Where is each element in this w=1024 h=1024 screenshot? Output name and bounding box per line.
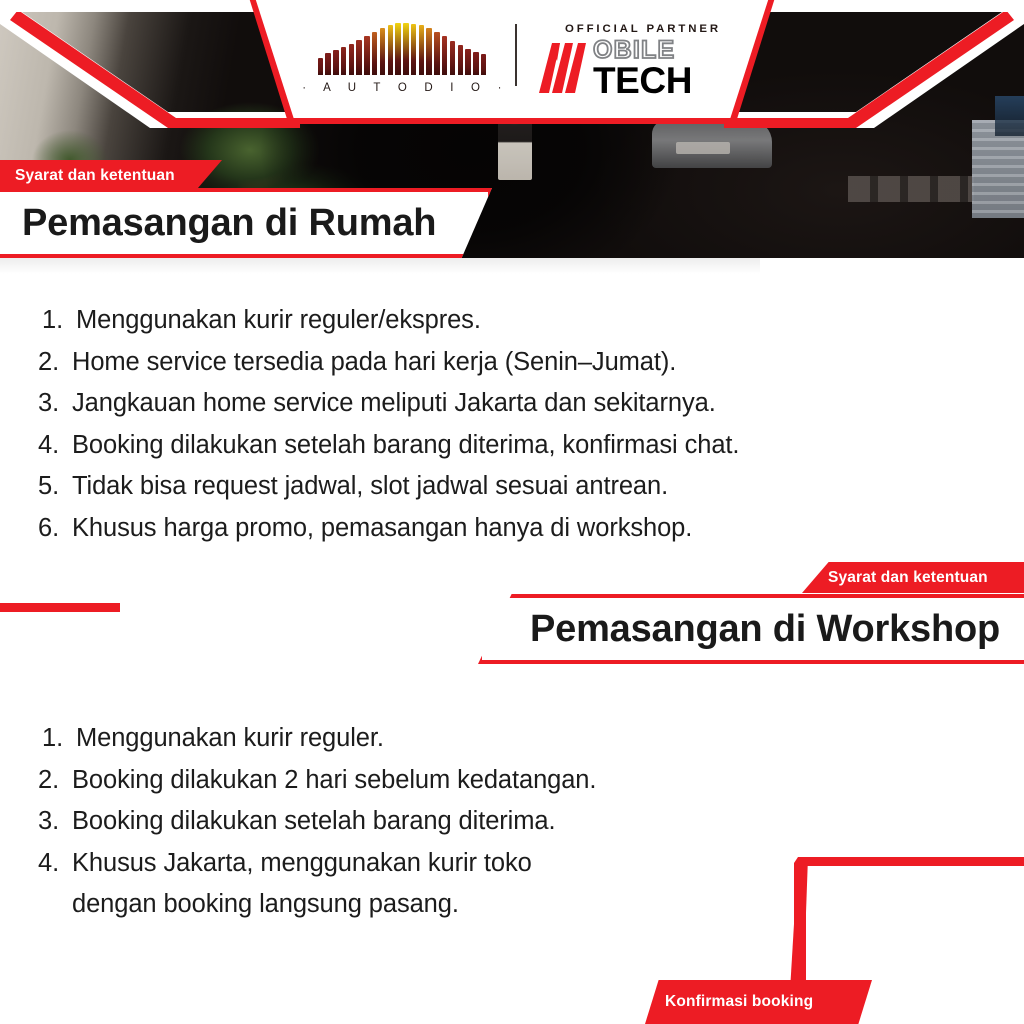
mobiletech-text-stack: OBILE TECH	[593, 37, 692, 98]
equalizer-bar	[341, 47, 346, 75]
list-item-text: Khusus harga promo, pemasangan hanya di …	[72, 508, 998, 550]
list-item: 4.Khusus Jakarta, menggunakan kurir toko…	[38, 843, 998, 926]
equalizer-bar	[372, 32, 377, 75]
equalizer-bar	[442, 36, 447, 75]
equalizer-bar	[419, 25, 424, 75]
list-item-number: 2.	[38, 760, 72, 802]
list-item-number: 5.	[38, 466, 72, 508]
list-item-number: 3.	[38, 801, 72, 843]
equalizer-bar	[411, 24, 416, 75]
banner-shadow	[0, 258, 760, 274]
equalizer-bar	[356, 40, 361, 75]
equalizer-bar	[325, 53, 330, 75]
equalizer-bar	[481, 54, 486, 75]
autodio-wordmark: · A U T O D I O ·	[295, 82, 508, 94]
list-item-number: 3.	[38, 383, 72, 425]
mobiletech-tech-text: TECH	[593, 64, 692, 98]
list-item: 2.Home service tersedia pada hari kerja …	[38, 342, 998, 384]
list-item: 3.Booking dilakukan setelah barang diter…	[38, 801, 998, 843]
list-item: 6.Khusus harga promo, pemasangan hanya d…	[38, 508, 998, 550]
equalizer-bar	[349, 44, 354, 75]
equalizer-bar	[333, 50, 338, 75]
equalizer-bar	[426, 28, 431, 75]
list-item-number: 1.	[42, 718, 76, 760]
mobiletech-m-icon	[535, 37, 595, 93]
header-left-rule	[0, 603, 120, 612]
list-item-text: Menggunakan kurir reguler/ekspres.	[76, 300, 998, 342]
mobiletech-logo: OFFICIAL PARTNER OBILE TECH	[535, 15, 721, 95]
list-item-text: Menggunakan kurir reguler.	[76, 718, 998, 760]
mobiletech-wordmark: OBILE TECH	[535, 37, 692, 95]
logo-group: · A U T O D I O · OFFICIAL PARTNER OBILE…	[252, 0, 772, 110]
page-title-home: Pemasangan di Rumah	[22, 202, 436, 245]
logo-divider	[515, 24, 517, 86]
equalizer-bars-icon	[318, 23, 487, 75]
equalizer-bar	[364, 36, 369, 75]
status-badge-workshop: Syarat dan ketentuan	[802, 562, 1024, 593]
official-partner-label: OFFICIAL PARTNER	[565, 23, 721, 35]
list-item-text: Booking dilakukan setelah barang diterim…	[72, 801, 998, 843]
list-item-text: Booking dilakukan setelah barang diterim…	[72, 425, 998, 467]
equalizer-bar	[473, 52, 478, 75]
status-badge-footer: Konfirmasi booking	[645, 980, 872, 1024]
equalizer-bar	[388, 25, 393, 75]
status-badge-home: Syarat dan ketentuan	[0, 160, 222, 191]
badge-label-footer: Konfirmasi booking	[665, 993, 813, 1011]
terms-list-workshop: 1.Menggunakan kurir reguler.2.Booking di…	[38, 718, 998, 926]
equalizer-bar	[318, 58, 323, 75]
section-header-workshop: Pemasangan di Workshop	[478, 594, 1024, 664]
terms-list-home: 1.Menggunakan kurir reguler/ekspres.2.Ho…	[38, 300, 998, 549]
poster-canvas: · A U T O D I O · OFFICIAL PARTNER OBILE…	[0, 0, 1024, 1024]
list-item-number: 4.	[38, 843, 72, 885]
badge-label-home: Syarat dan ketentuan	[15, 167, 175, 185]
list-item-text: Tidak bisa request jadwal, slot jadwal s…	[72, 466, 998, 508]
list-item: 1.Menggunakan kurir reguler/ekspres.	[42, 300, 998, 342]
page-title-workshop: Pemasangan di Workshop	[530, 608, 1000, 651]
equalizer-bar	[380, 28, 385, 75]
list-item-text: Jangkauan home service meliputi Jakarta …	[72, 383, 998, 425]
autodio-logo: · A U T O D I O ·	[303, 17, 501, 94]
list-item-number: 6.	[38, 508, 72, 550]
list-item-number: 1.	[42, 300, 76, 342]
badge-label-workshop: Syarat dan ketentuan	[828, 569, 988, 587]
photo-bench	[848, 176, 974, 202]
list-item: 2.Booking dilakukan 2 hari sebelum kedat…	[38, 760, 998, 802]
list-item-text: Khusus Jakarta, menggunakan kurir tokode…	[72, 843, 998, 926]
equalizer-bar	[458, 45, 463, 75]
list-item-text: Booking dilakukan 2 hari sebelum kedatan…	[72, 760, 998, 802]
equalizer-bar	[465, 49, 470, 75]
equalizer-bar	[450, 41, 455, 75]
list-item: 1.Menggunakan kurir reguler.	[42, 718, 998, 760]
list-item: 4.Booking dilakukan setelah barang diter…	[38, 425, 998, 467]
list-item-number: 4.	[38, 425, 72, 467]
equalizer-bar	[403, 23, 408, 75]
list-item: 5.Tidak bisa request jadwal, slot jadwal…	[38, 466, 998, 508]
equalizer-bar	[434, 32, 439, 75]
list-item-text: Home service tersedia pada hari kerja (S…	[72, 342, 998, 384]
list-item: 3.Jangkauan home service meliputi Jakart…	[38, 383, 998, 425]
section-header-home: Pemasangan di Rumah	[0, 188, 492, 258]
list-item-text-continued: dengan booking langsung pasang.	[72, 884, 998, 926]
equalizer-bar	[395, 23, 400, 75]
list-item-number: 2.	[38, 342, 72, 384]
